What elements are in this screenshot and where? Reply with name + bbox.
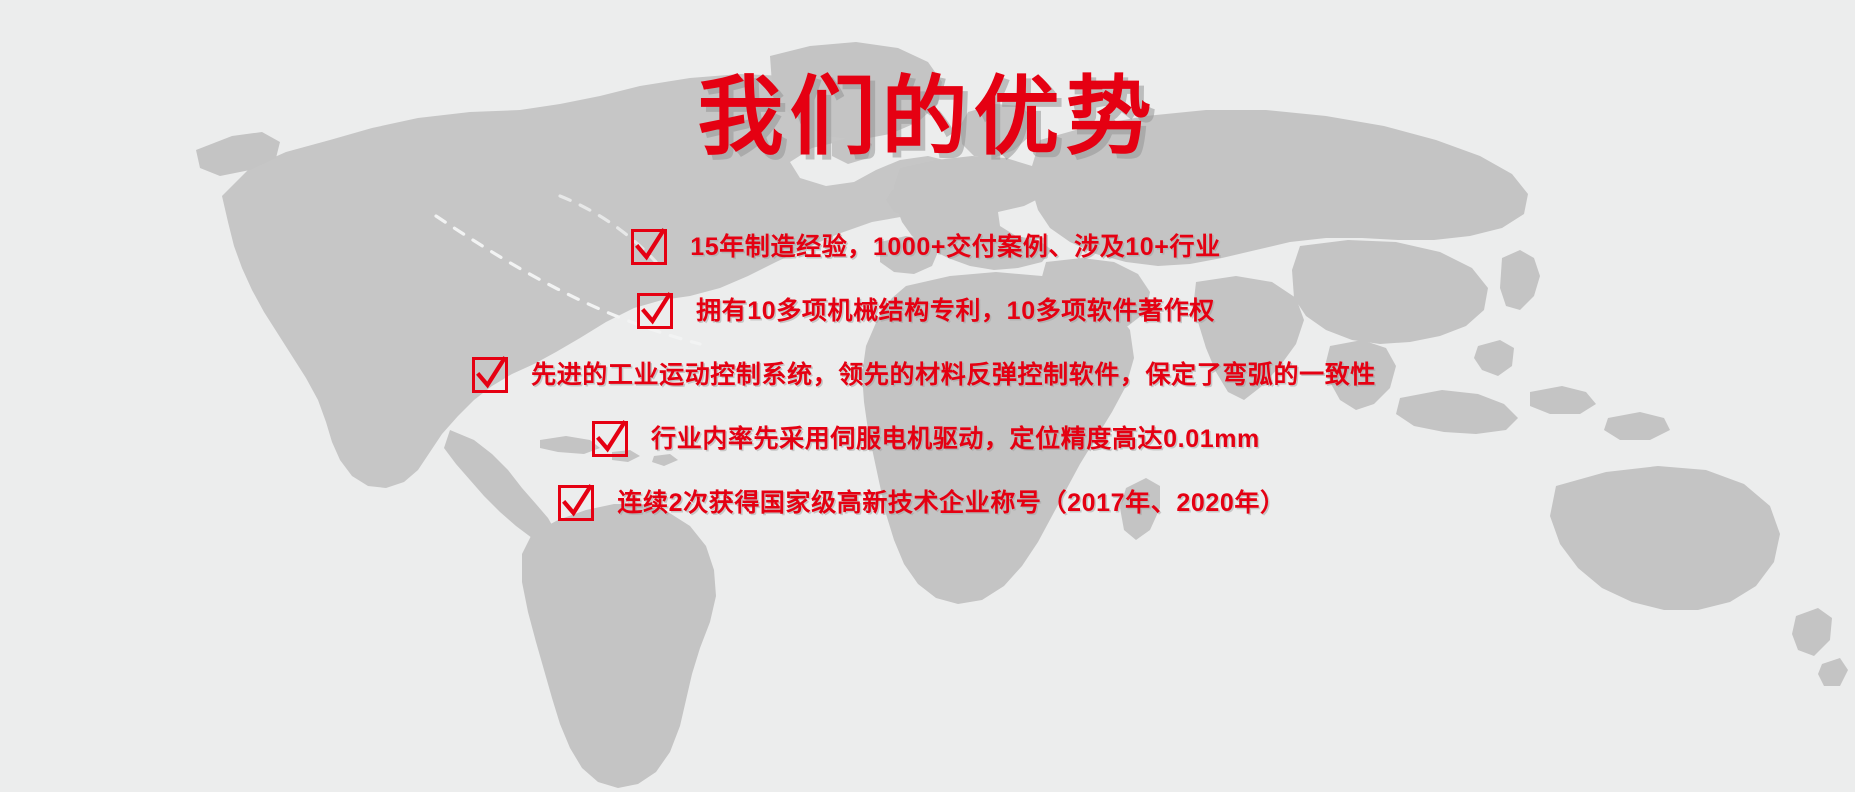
page-title: 我们的优势 [0,74,1855,160]
list-item: 连续2次获得国家级高新技术企业称号（2017年、2020年） [0,484,1849,522]
checkbox-checked-icon [630,228,668,266]
list-item: 15年制造经验，1000+交付案例、涉及10+行业 [0,228,1853,266]
checkbox-checked-icon [557,484,595,522]
advantages-banner: 我们的优势 15年制造经验，1000+交付案例、涉及10+行业 [0,0,1855,792]
list-item-label: 拥有10多项机械结构专利，10多项软件著作权 [696,296,1215,326]
list-item: 行业内率先采用伺服电机驱动，定位精度高达0.01mm [0,420,1853,458]
checkbox-checked-icon [636,292,674,330]
list-item: 先进的工业运动控制系统，领先的材料反弹控制软件，保定了弯弧的一致性 [0,356,1851,394]
list-item-label: 连续2次获得国家级高新技术企业称号（2017年、2020年） [617,488,1285,518]
list-item-label: 15年制造经验，1000+交付案例、涉及10+行业 [690,232,1220,262]
list-item: 拥有10多项机械结构专利，10多项软件著作权 [0,292,1853,330]
checkbox-checked-icon [591,420,629,458]
advantages-list: 15年制造经验，1000+交付案例、涉及10+行业 拥有10多项机械结构专利，1… [0,228,1855,522]
list-item-label: 行业内率先采用伺服电机驱动，定位精度高达0.01mm [651,424,1260,454]
list-item-label: 先进的工业运动控制系统，领先的材料反弹控制软件，保定了弯弧的一致性 [531,360,1376,390]
checkbox-checked-icon [471,356,509,394]
